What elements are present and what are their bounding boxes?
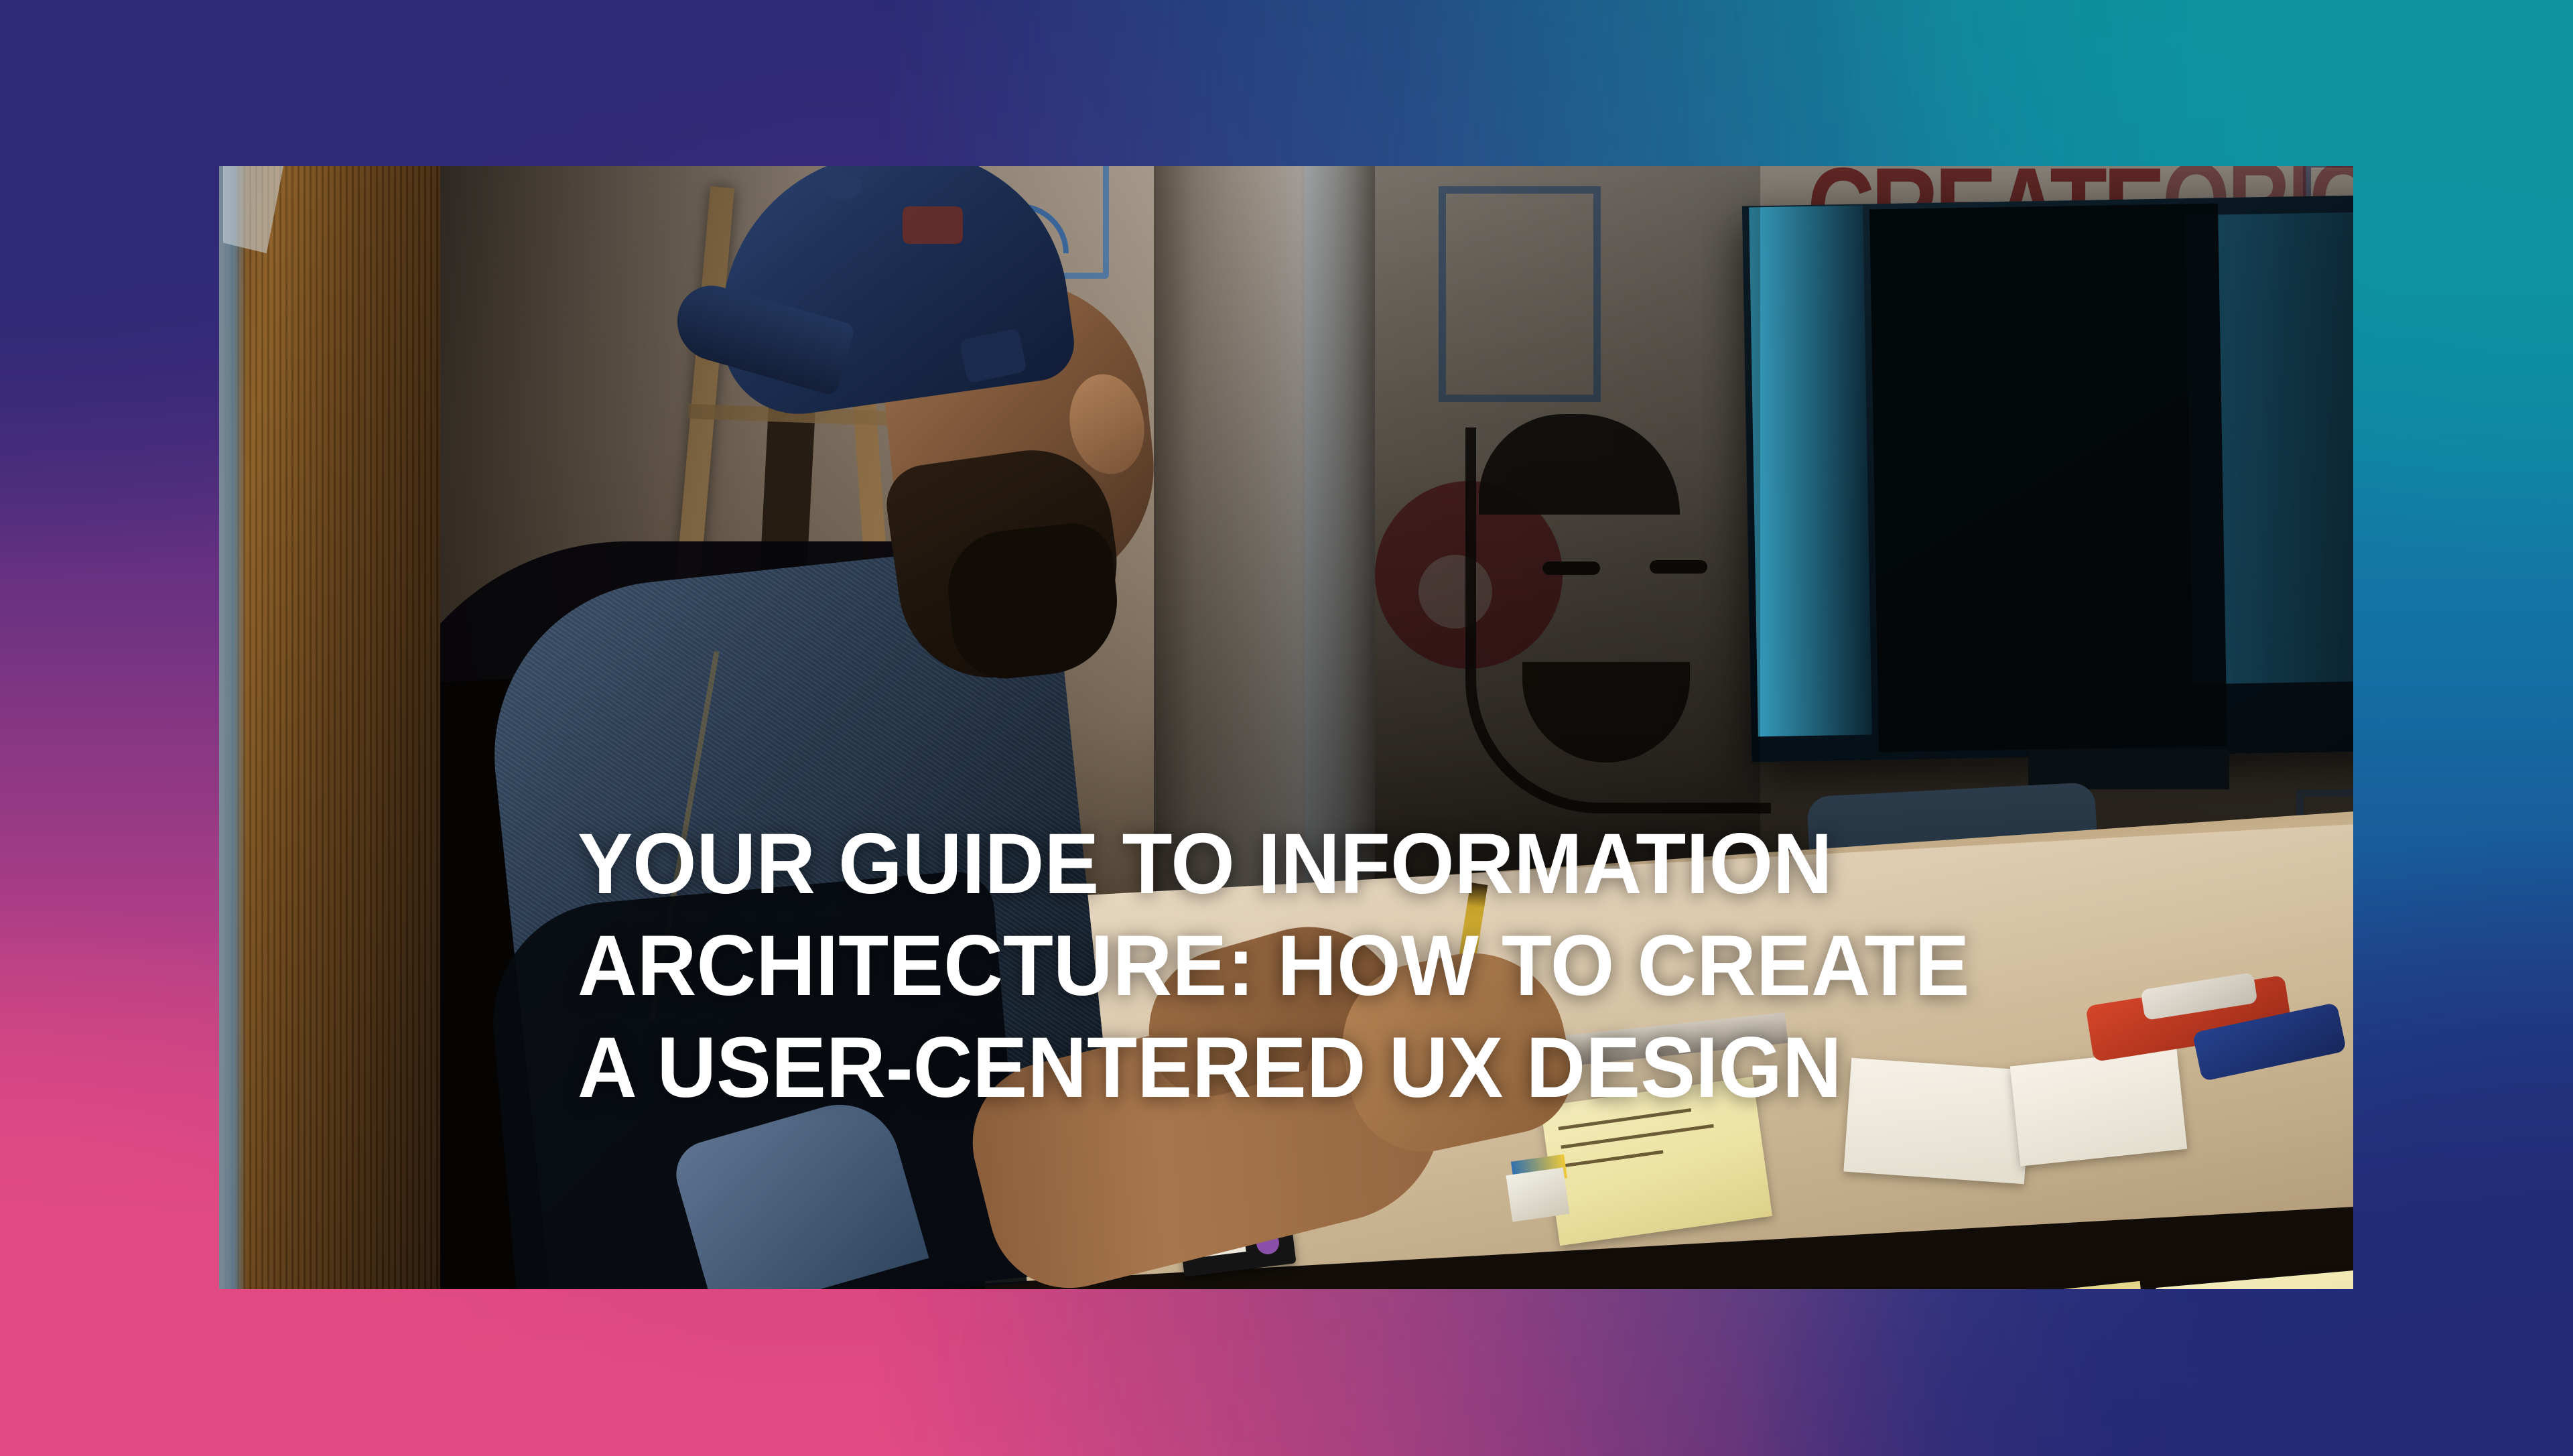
- sticky-note: [2156, 1270, 2353, 1289]
- wood-panel-edge: [219, 166, 246, 1289]
- cap-button: [822, 173, 862, 200]
- page-title-line-3: A USER-CENTERED UX DESIGN: [578, 1017, 2314, 1119]
- cap-patch: [903, 206, 963, 244]
- hero-photo: CREATE ORIGINAL: [219, 166, 2353, 1289]
- tv-screen-dark-area: [1869, 204, 2227, 752]
- page-title-line-1: YOUR GUIDE TO INFORMATION: [578, 813, 2314, 915]
- page-title: YOUR GUIDE TO INFORMATION ARCHITECTURE: …: [578, 813, 2314, 1119]
- hero-banner: CREATE ORIGINAL: [0, 0, 2573, 1456]
- eraser: [1506, 1167, 1570, 1221]
- sticky-note: [1926, 1281, 2156, 1289]
- tv-screen-glow-left: [1749, 206, 1872, 737]
- page-title-line-2: ARCHITECTURE: HOW TO CREATE: [578, 915, 2314, 1017]
- wood-panel-wall: [219, 166, 440, 1289]
